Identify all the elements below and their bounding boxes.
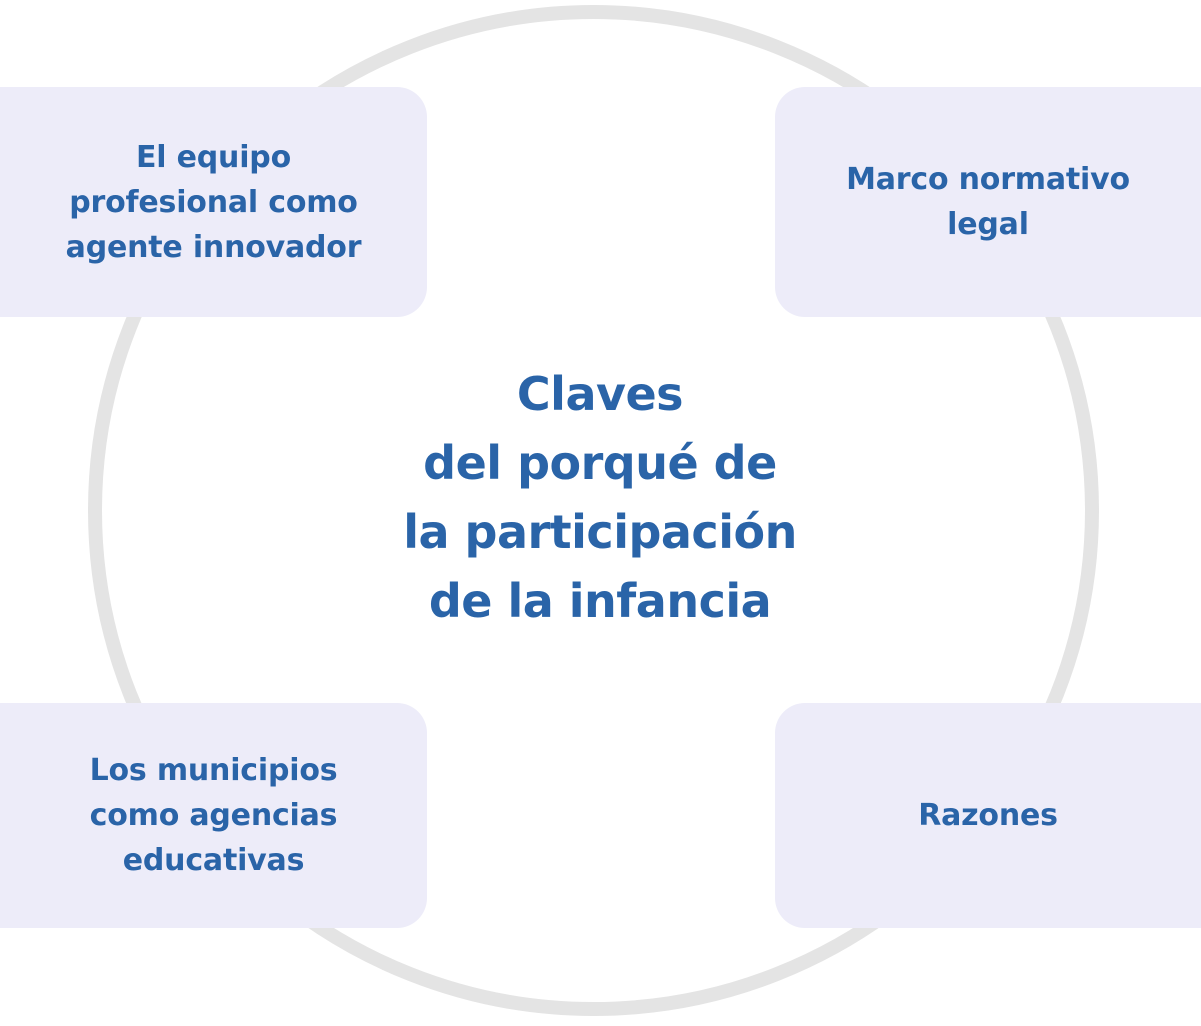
node-bottom-right-label: Razones [918, 793, 1058, 838]
center-title: Claves del porqué de la participación de… [300, 360, 900, 636]
node-bottom-left-label: Los municipios como agencias educativas [90, 748, 338, 883]
node-top-right-label: Marco normativo legal [846, 157, 1130, 247]
node-top-left[interactable]: El equipo profesional como agente innova… [0, 87, 427, 317]
diagram-canvas: El equipo profesional como agente innova… [0, 0, 1201, 1026]
node-top-right[interactable]: Marco normativo legal [775, 87, 1201, 317]
node-top-left-label: El equipo profesional como agente innova… [66, 135, 362, 270]
node-bottom-right[interactable]: Razones [775, 703, 1201, 928]
node-bottom-left[interactable]: Los municipios como agencias educativas [0, 703, 427, 928]
